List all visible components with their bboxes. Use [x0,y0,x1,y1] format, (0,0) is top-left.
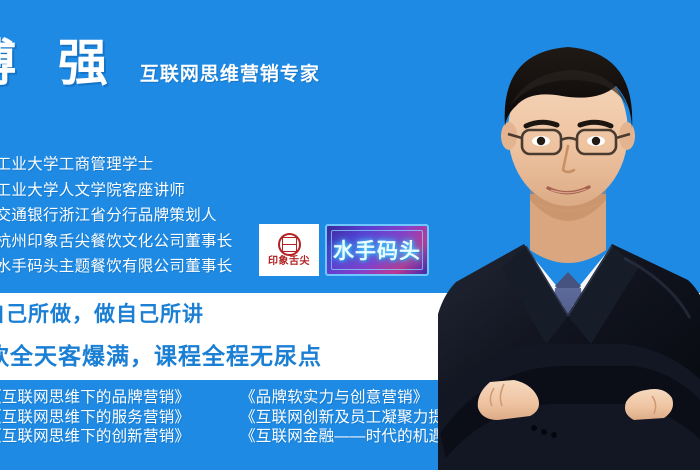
course-item: 《互联网创新及员工凝聚力提升》 [240,408,507,428]
course-item: 《互联网金融——时代的机遇与创新》 [240,427,507,447]
slogan-banner-text-group: 讲自己所做，做自己所讲 餐饮全天客爆满，课程全程无尿点 [0,304,322,368]
credential-item: 现任杭州印象舌尖餐饮文化公司董事长 [0,229,233,255]
headline-group: 博 强 互联网思维营销专家 [0,38,320,88]
slogan-banner: 讲自己所做，做自己所讲 餐饮全天客爆满，课程全程无尿点 [0,293,700,380]
course-item: 《品牌软实力与创意营销》 [240,388,507,408]
credential-item: 杭州水手码头主题餐饮有限公司董事长 [0,254,233,280]
speaker-name: 博 强 [0,38,122,88]
slogan-line-2: 餐饮全天客爆满，课程全程无尿点 [0,345,322,368]
brand-logo-group: 印象舌尖 水手码头 [259,224,429,276]
logo-seal-label: 印象舌尖 [268,257,310,267]
credential-item: 浙江工业大学人文学院客座讲师 [0,178,233,204]
logo-shuishou-matou: 水手码头 [325,224,429,276]
credential-item: 浙江工业大学工商管理学士 [0,152,233,178]
speaker-profile-poster: 讲自己所做，做自己所讲 餐饮全天客爆满，课程全程无尿点 博 强 互联网思维营销专… [0,0,700,470]
credential-item: 现任交通银行浙江省分行品牌策划人 [0,203,233,229]
course-column-2: 《品牌软实力与创意营销》 《互联网创新及员工凝聚力提升》 《互联网金融——时代的… [240,388,507,447]
course-list: 《互联网思维下的品牌营销》 《互联网思维下的服务营销》 《互联网思维下的创新营销… [0,388,507,447]
seal-stamp-icon [278,233,301,256]
logo-neon-label: 水手码头 [333,235,421,265]
logo-yinxiang-shejian: 印象舌尖 [259,224,319,276]
course-item: 《互联网思维下的创新营销》 [0,427,190,447]
course-item: 《互联网思维下的品牌营销》 [0,388,190,408]
slogan-line-1: 讲自己所做，做自己所讲 [0,304,322,325]
course-item: 《互联网思维下的服务营销》 [0,408,190,428]
speaker-subtitle: 互联网思维营销专家 [140,65,320,84]
course-column-1: 《互联网思维下的品牌营销》 《互联网思维下的服务营销》 《互联网思维下的创新营销… [0,388,190,447]
credentials-list: 浙江工业大学工商管理学士 浙江工业大学人文学院客座讲师 现任交通银行浙江省分行品… [0,152,233,280]
